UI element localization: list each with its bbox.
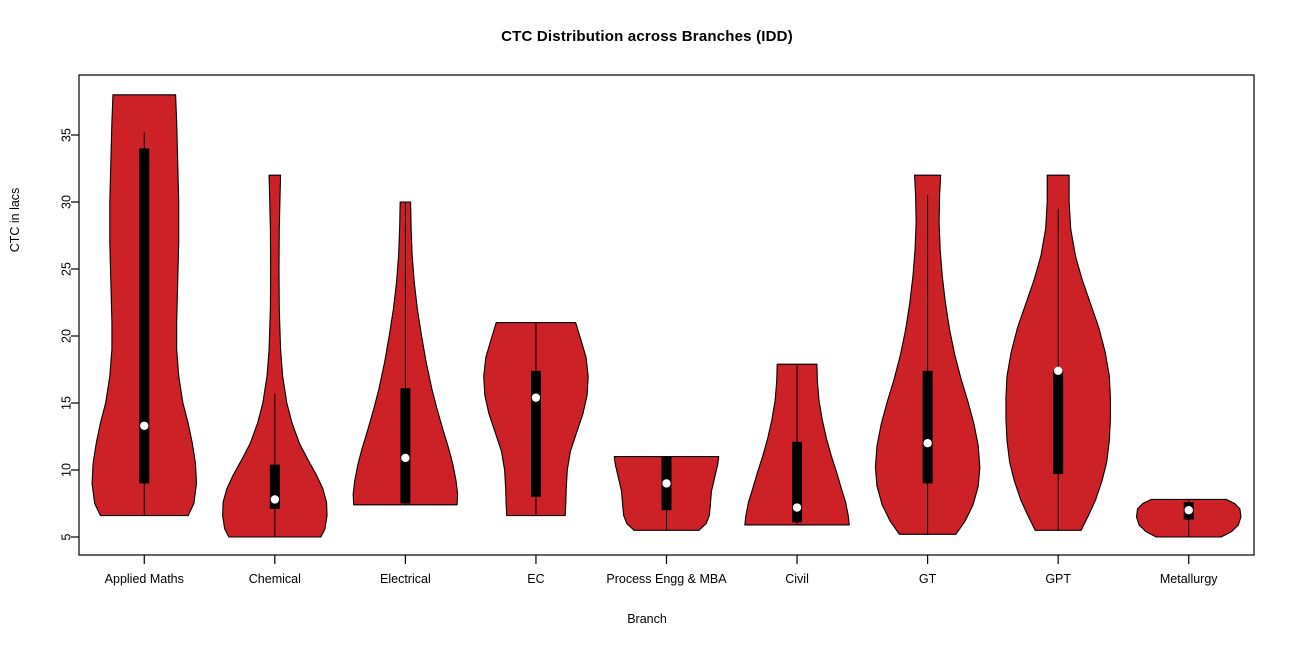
violin-group (353, 202, 457, 505)
y-axis-tick-label: 25 (60, 262, 74, 276)
violin-group (1006, 175, 1110, 530)
median-point (1185, 506, 1193, 514)
x-axis-tick-label: EC (527, 572, 544, 586)
x-axis-tick-label: GPT (1045, 572, 1071, 586)
median-point (401, 454, 409, 462)
iqr-box (139, 148, 149, 483)
median-point (923, 439, 931, 447)
violin-plot-figure: CTC Distribution across Branches (IDD) C… (0, 0, 1294, 653)
x-axis-tick-label: Electrical (380, 572, 431, 586)
violin-group (92, 95, 196, 516)
median-point (140, 422, 148, 430)
violin-group (614, 457, 718, 531)
iqr-box (400, 388, 410, 503)
median-point (1054, 367, 1062, 375)
violin-group (745, 364, 849, 525)
x-axis-tick-label: Process Engg & MBA (606, 572, 727, 586)
chart-canvas: 5101520253035Applied MathsChemicalElectr… (0, 0, 1294, 653)
y-axis-tick-label: 15 (60, 396, 74, 410)
x-axis-tick-label: GT (919, 572, 937, 586)
y-axis-tick-label: 10 (60, 463, 74, 477)
violin-group (1137, 499, 1241, 537)
violin-group (875, 175, 979, 534)
x-axis-tick-label: Metallurgy (1160, 572, 1218, 586)
y-axis-tick-label: 5 (60, 533, 74, 540)
y-axis-tick-label: 35 (60, 128, 74, 142)
violin-group (223, 175, 327, 537)
median-point (271, 495, 279, 503)
iqr-box (923, 371, 933, 484)
iqr-box (1053, 371, 1063, 474)
violin-group (484, 323, 588, 516)
median-point (662, 479, 670, 487)
iqr-box (531, 371, 541, 497)
x-axis-tick-label: Civil (785, 572, 809, 586)
median-point (532, 393, 540, 401)
y-axis-tick-label: 20 (60, 329, 74, 343)
x-axis-tick-label: Applied Maths (105, 572, 184, 586)
y-axis-tick-label: 30 (60, 195, 74, 209)
median-point (793, 503, 801, 511)
x-axis-tick-label: Chemical (249, 572, 301, 586)
